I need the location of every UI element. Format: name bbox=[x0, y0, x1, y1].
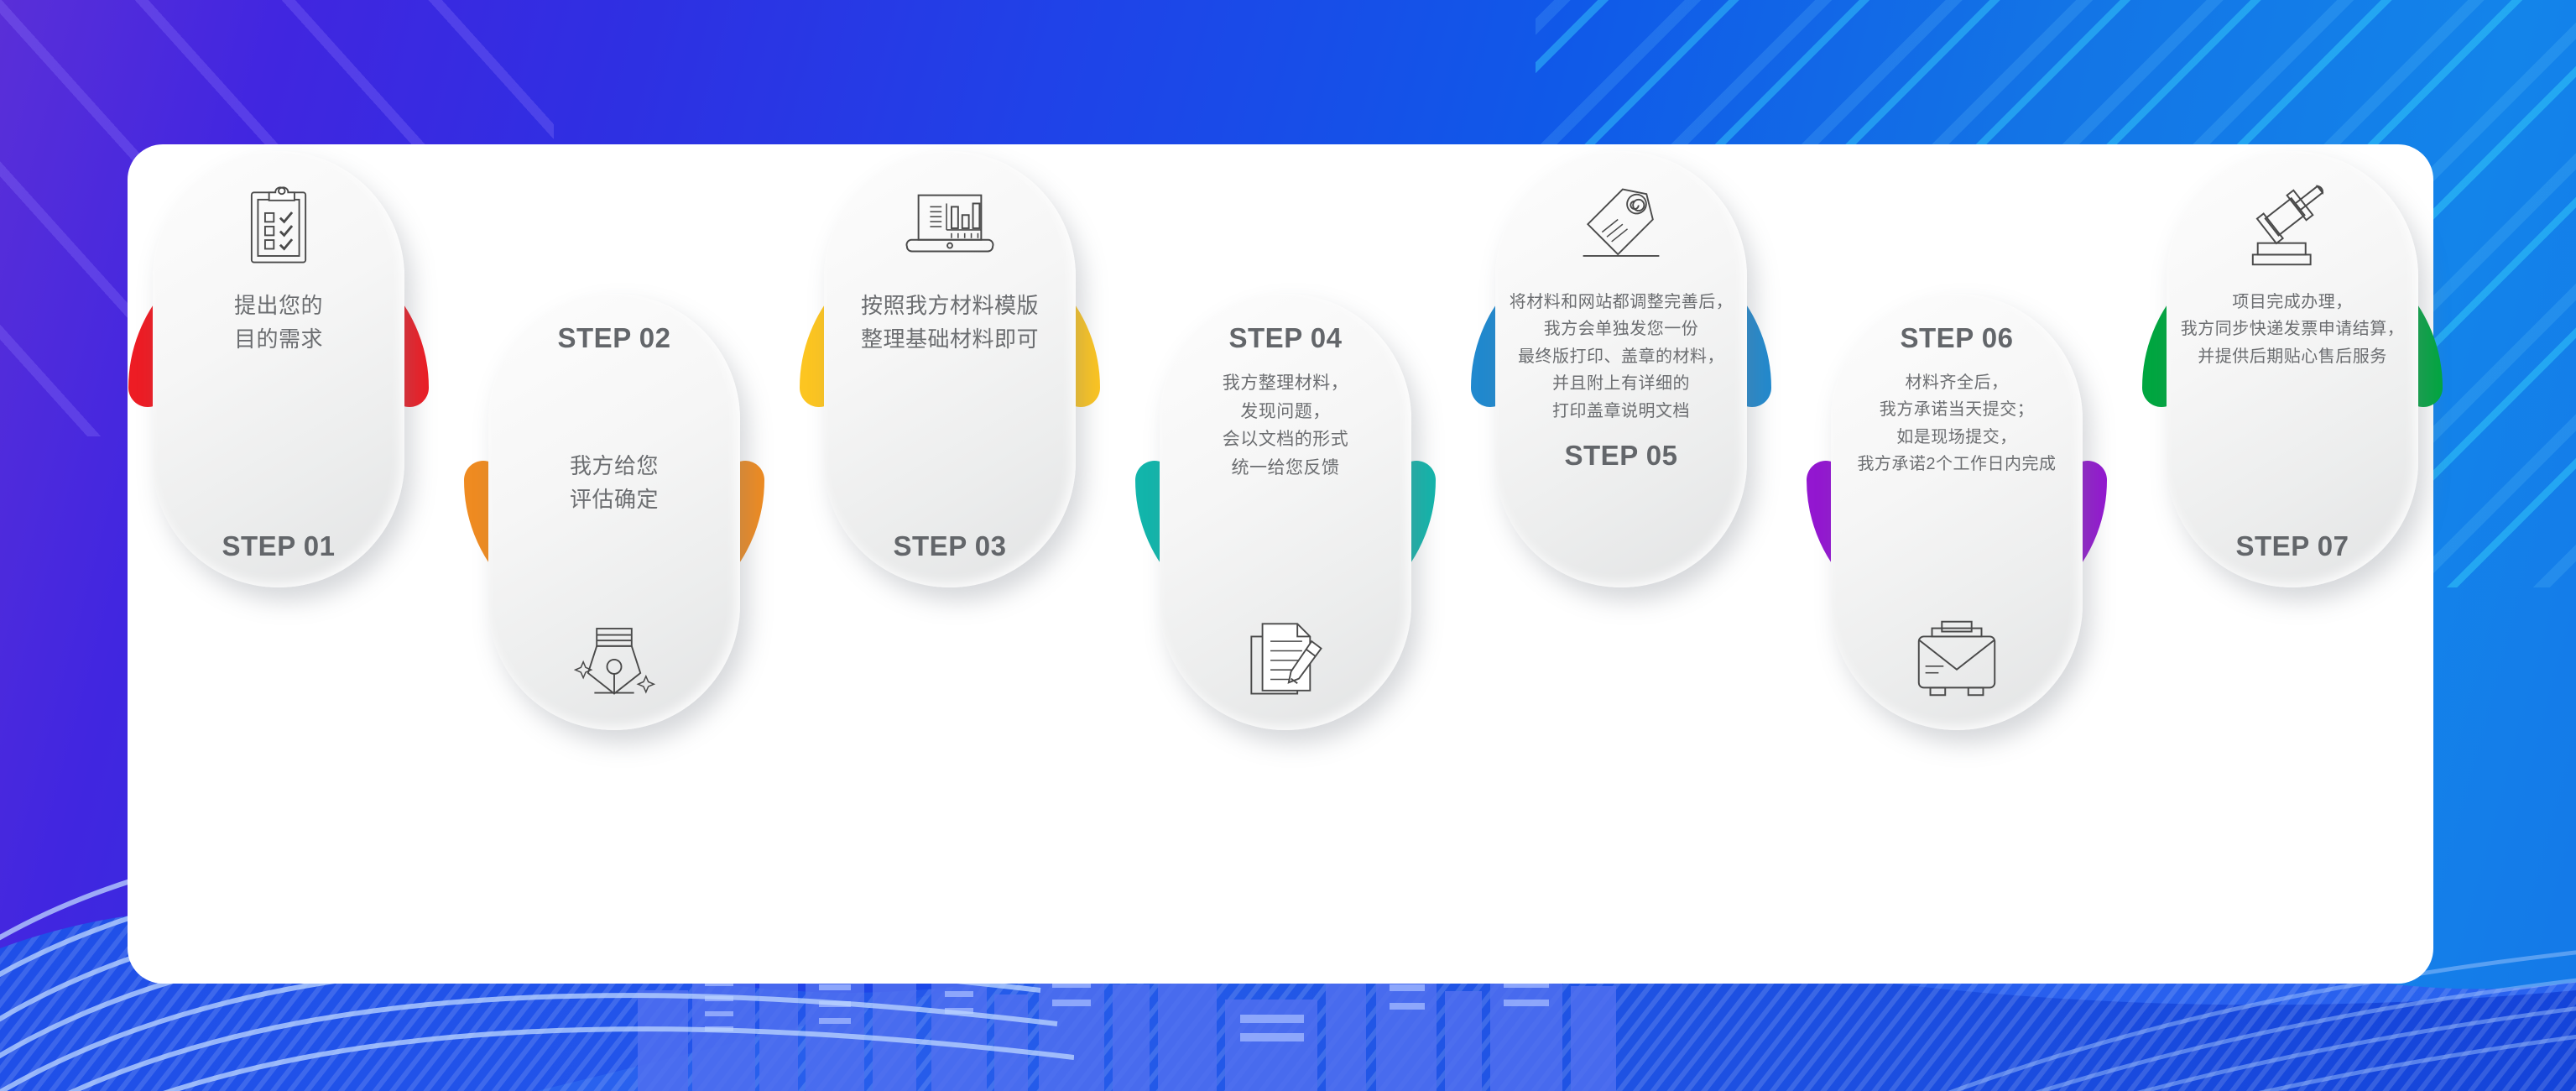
gavel-icon bbox=[2238, 180, 2347, 274]
document-pencil-icon bbox=[1231, 611, 1340, 705]
step-pill-2[interactable]: STEP 02 我方给您 评估确定 bbox=[488, 294, 740, 730]
briefcase-envelope-icon bbox=[1902, 611, 2011, 705]
step-description-6: 材料齐全后， 我方承诺当天提交； 如是现场提交， 我方承诺2个工作日内完成 bbox=[1857, 369, 2056, 478]
pen-nib-sparkle-icon bbox=[560, 611, 669, 705]
step-label-3: STEP 03 bbox=[894, 530, 1007, 562]
step-pill-5[interactable]: 将材料和网站都调整完善后， 我方会单独发您一份 最终版打印、盖章的材料， 并且附… bbox=[1495, 151, 1747, 587]
step-description-5: 将材料和网站都调整完善后， 我方会单独发您一份 最终版打印、盖章的材料， 并且附… bbox=[1510, 289, 1734, 425]
price-tag-icon bbox=[1567, 180, 1676, 274]
step-pill-6[interactable]: STEP 06 材料齐全后， 我方承诺当天提交； 如是现场提交， 我方承诺2个工… bbox=[1831, 294, 2083, 730]
step-pill-1[interactable]: 提出您的 目的需求 STEP 01 bbox=[153, 151, 404, 587]
step-description-1: 提出您的 目的需求 bbox=[234, 289, 323, 357]
step-pill-3[interactable]: 按照我方材料模版 整理基础材料即可 STEP 03 bbox=[824, 151, 1076, 587]
poster-canvas: 提出您的 目的需求 STEP 01 STEP 02 我方给您 评估确定 bbox=[0, 0, 2576, 1091]
step-pill-7[interactable]: 项目完成办理， 我方同步快递发票申请结算， 并提供后期贴心售后服务 STEP 0… bbox=[2167, 151, 2418, 587]
step-label-7: STEP 07 bbox=[2236, 530, 2349, 562]
laptop-chart-icon bbox=[895, 180, 1004, 274]
step-description-4: 我方整理材料， 发现问题， 会以文档的形式 统一给您反馈 bbox=[1223, 369, 1349, 482]
step-description-3: 按照我方材料模版 整理基础材料即可 bbox=[861, 289, 1039, 357]
step-label-6: STEP 06 bbox=[1901, 322, 2014, 354]
step-description-7: 项目完成办理， 我方同步快递发票申请结算， 并提供后期贴心售后服务 bbox=[2181, 289, 2405, 370]
step-label-2: STEP 02 bbox=[558, 322, 671, 354]
step-label-4: STEP 04 bbox=[1229, 322, 1343, 354]
step-label-1: STEP 01 bbox=[222, 530, 336, 562]
clipboard-checklist-icon bbox=[224, 180, 333, 274]
step-description-2: 我方给您 评估确定 bbox=[570, 449, 659, 517]
step-label-5: STEP 05 bbox=[1565, 440, 1678, 472]
step-pill-4[interactable]: STEP 04 我方整理材料， 发现问题， 会以文档的形式 统一给您反馈 bbox=[1160, 294, 1411, 730]
steps-container: 提出您的 目的需求 STEP 01 STEP 02 我方给您 评估确定 bbox=[128, 144, 2433, 984]
